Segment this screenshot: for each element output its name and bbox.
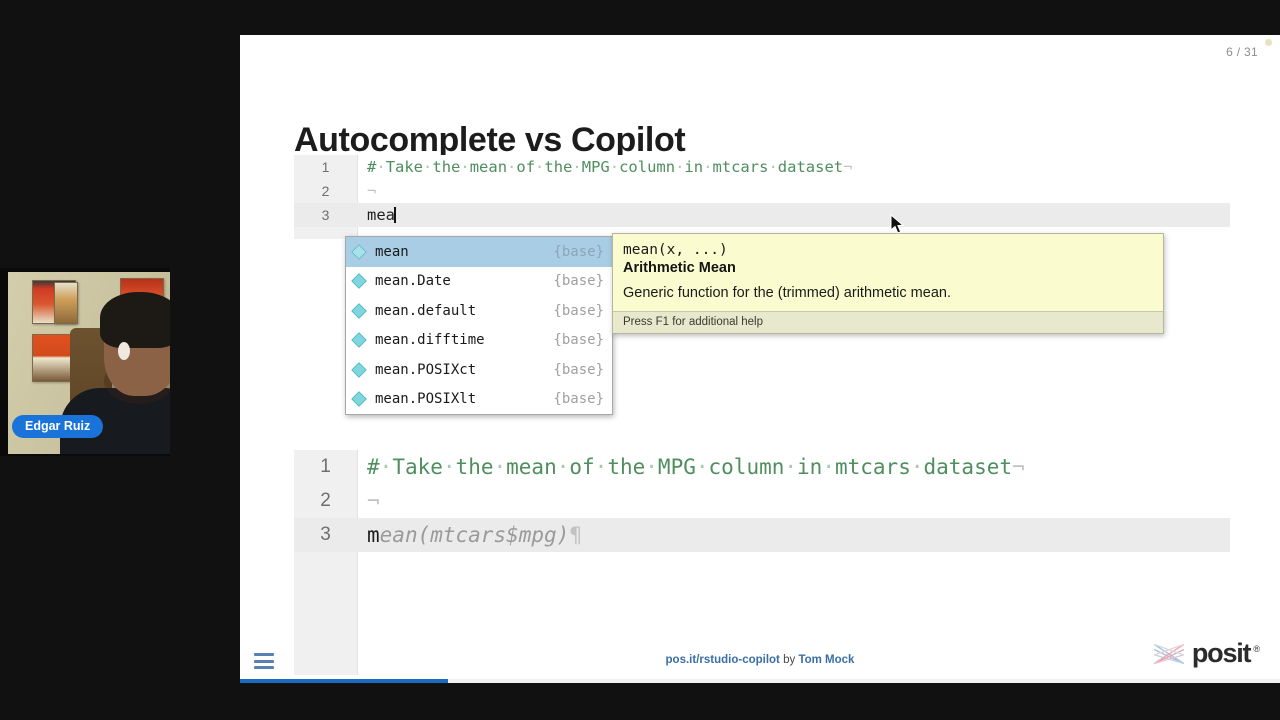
function-diamond-icon xyxy=(351,333,366,348)
webcam-overlay[interactable]: Edgar Ruiz xyxy=(0,268,170,456)
autocomplete-item-mean-default[interactable]: mean.default {base} xyxy=(346,296,612,326)
autocomplete-item-package: {base} xyxy=(553,244,604,260)
code-line-content: mea xyxy=(357,206,1230,224)
code-line-content: ¬ xyxy=(357,182,1230,200)
autocomplete-item-package: {base} xyxy=(553,273,604,289)
code-line[interactable]: 1 #·Take·the·mean·of·the·MPG·column·in·m… xyxy=(294,155,1230,179)
function-signature: mean(x, ...) xyxy=(623,242,1153,258)
autocomplete-item-label: mean.Date xyxy=(375,273,553,289)
code-line-content: mean(mtcars$mpg)¶ xyxy=(357,523,1230,547)
wall-poster xyxy=(32,334,74,382)
function-diamond-icon xyxy=(351,244,366,259)
autocomplete-item-mean-date[interactable]: mean.Date {base} xyxy=(346,267,612,297)
function-title: Arithmetic Mean xyxy=(623,260,1153,276)
eol-marker: ¬ xyxy=(367,182,376,200)
autocomplete-item-label: mean xyxy=(375,244,553,260)
function-diamond-icon xyxy=(351,392,366,407)
autocomplete-item-label: mean.POSIXlt xyxy=(375,391,553,407)
page-counter: 6 / 31 xyxy=(1226,45,1258,59)
autocomplete-item-package: {base} xyxy=(553,332,604,348)
code-line-active[interactable]: 3 mea xyxy=(294,203,1230,227)
autocomplete-item-package: {base} xyxy=(553,362,604,378)
posit-trademark: ® xyxy=(1253,644,1260,654)
corner-dot-indicator xyxy=(1265,39,1272,46)
page-title: Autocomplete vs Copilot xyxy=(294,121,685,160)
line-number: 1 xyxy=(294,159,357,175)
typed-text: mea xyxy=(367,206,395,224)
eol-marker: ¶ xyxy=(569,523,582,547)
autocomplete-item-mean-posixct[interactable]: mean.POSIXct {base} xyxy=(346,355,612,385)
slide-progress-track[interactable] xyxy=(240,679,1280,683)
tooltip-help-hint: Press F1 for additional help xyxy=(613,311,1163,333)
function-diamond-icon xyxy=(351,362,366,377)
function-diamond-icon xyxy=(351,274,366,289)
autocomplete-item-mean-difftime[interactable]: mean.difftime {base} xyxy=(346,326,612,356)
code-line-content: #·Take·the·mean·of·the·MPG·column·in·mtc… xyxy=(357,455,1230,479)
slide-menu-hamburger-icon[interactable] xyxy=(254,653,274,669)
screen-recording-frame: 6 / 31 Autocomplete vs Copilot 1 #·Take·… xyxy=(0,0,1280,720)
tooltip-body: mean(x, ...) Arithmetic Mean Generic fun… xyxy=(613,234,1163,311)
autocomplete-popup[interactable]: mean {base} mean.Date {base} mean.defaul… xyxy=(345,236,613,415)
slide-canvas: 6 / 31 Autocomplete vs Copilot 1 #·Take·… xyxy=(240,35,1280,683)
footer-credit: pos.it/rstudio-copilot by Tom Mock xyxy=(240,654,1280,666)
footer-by-label: by xyxy=(780,654,799,666)
line-number: 2 xyxy=(294,183,357,199)
code-line[interactable]: 2 ¬ xyxy=(294,179,1230,203)
slide-progress-fill xyxy=(240,679,448,683)
eol-marker: ¬ xyxy=(1012,455,1025,479)
function-help-tooltip: mean(x, ...) Arithmetic Mean Generic fun… xyxy=(612,233,1164,334)
line-number: 3 xyxy=(294,207,357,223)
autocomplete-item-mean-posixlt[interactable]: mean.POSIXlt {base} xyxy=(346,385,612,415)
code-line-active[interactable]: 3 mean(mtcars$mpg)¶ xyxy=(294,518,1230,552)
autocomplete-item-label: mean.difftime xyxy=(375,332,553,348)
code-line[interactable]: 1 #·Take·the·mean·of·the·MPG·column·in·m… xyxy=(294,450,1230,484)
eol-marker: ¬ xyxy=(843,158,852,176)
code-line-content: #·Take·the·mean·of·the·MPG·column·in·mtc… xyxy=(357,158,1230,176)
function-diamond-icon xyxy=(351,303,366,318)
code-editor-autocomplete[interactable]: 1 #·Take·the·mean·of·the·MPG·column·in·m… xyxy=(294,155,1230,227)
posit-logo: posit ® xyxy=(1152,638,1260,669)
autocomplete-item-package: {base} xyxy=(553,391,604,407)
posit-wordmark: posit xyxy=(1192,638,1251,669)
text-caret xyxy=(394,207,396,223)
typed-text: m xyxy=(367,523,380,547)
speaker-hair xyxy=(100,292,170,348)
eol-marker: ¬ xyxy=(367,489,380,513)
speaker-earbud xyxy=(118,342,130,360)
function-description: Generic function for the (trimmed) arith… xyxy=(623,285,1153,301)
line-number: 1 xyxy=(294,456,357,478)
autocomplete-item-mean[interactable]: mean {base} xyxy=(346,237,612,267)
copilot-ghost-suggestion: ean(mtcars$mpg) xyxy=(380,523,570,547)
line-number: 2 xyxy=(294,490,357,512)
code-line-content: ¬ xyxy=(357,489,1230,513)
wall-poster xyxy=(54,282,78,324)
autocomplete-item-label: mean.POSIXct xyxy=(375,362,553,378)
code-line[interactable]: 2 ¬ xyxy=(294,484,1230,518)
line-number: 3 xyxy=(294,524,357,546)
speaker-name-badge: Edgar Ruiz xyxy=(12,415,103,438)
footer-author: Tom Mock xyxy=(798,654,854,666)
autocomplete-item-label: mean.default xyxy=(375,303,553,319)
footer-link[interactable]: pos.it/rstudio-copilot xyxy=(666,654,780,666)
code-editor-copilot[interactable]: 1 #·Take·the·mean·of·the·MPG·column·in·m… xyxy=(294,450,1230,672)
posit-mesh-icon xyxy=(1152,641,1186,667)
autocomplete-item-package: {base} xyxy=(553,303,604,319)
